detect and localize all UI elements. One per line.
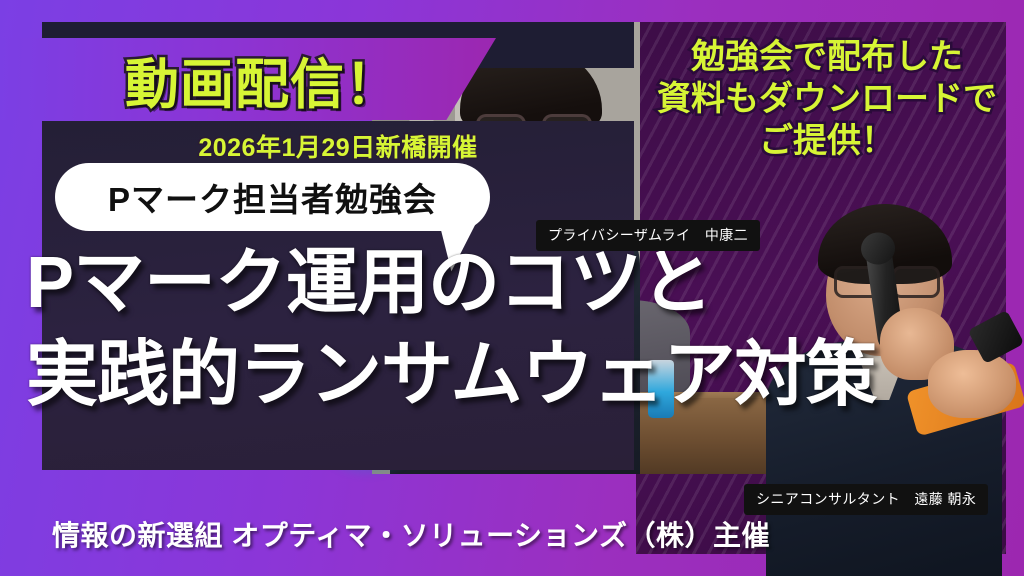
title-line-1: Pマーク運用のコツと xyxy=(26,245,986,323)
speech-bubble: Pマーク担当者勉強会 xyxy=(55,163,490,231)
main-title: Pマーク運用のコツと 実践的ランサムウェア対策 xyxy=(26,245,986,415)
organizer-banner: 情報の新選組 オプティマ・ソリューションズ（株）主催 xyxy=(0,492,1024,576)
nametag-speaker-1: プライバシーザムライ 中康二 xyxy=(536,220,760,251)
callout-line-3: ご提供！ xyxy=(630,120,1024,162)
speech-bubble-label: Pマーク担当者勉強会 xyxy=(108,173,437,221)
organizer-label: 情報の新選組 オプティマ・ソリューションズ（株）主催 xyxy=(52,514,770,554)
download-callout: 勉強会で配布した 資料もダウンロードで ご提供！ xyxy=(630,36,1024,162)
video-stream-ribbon: 動画配信！ xyxy=(0,38,496,120)
event-date-line: 2026年1月29日新橋開催 xyxy=(42,128,634,164)
youtube-thumbnail: 動画配信！ 2026年1月29日新橋開催 Pマーク担当者勉強会 Pマーク運用のコ… xyxy=(0,0,1024,576)
ribbon-label: 動画配信！ xyxy=(125,40,400,119)
callout-line-2: 資料もダウンロードで xyxy=(630,78,1024,120)
title-line-2: 実践的ランサムウェア対策 xyxy=(26,337,986,415)
callout-line-1: 勉強会で配布した xyxy=(630,36,1024,78)
